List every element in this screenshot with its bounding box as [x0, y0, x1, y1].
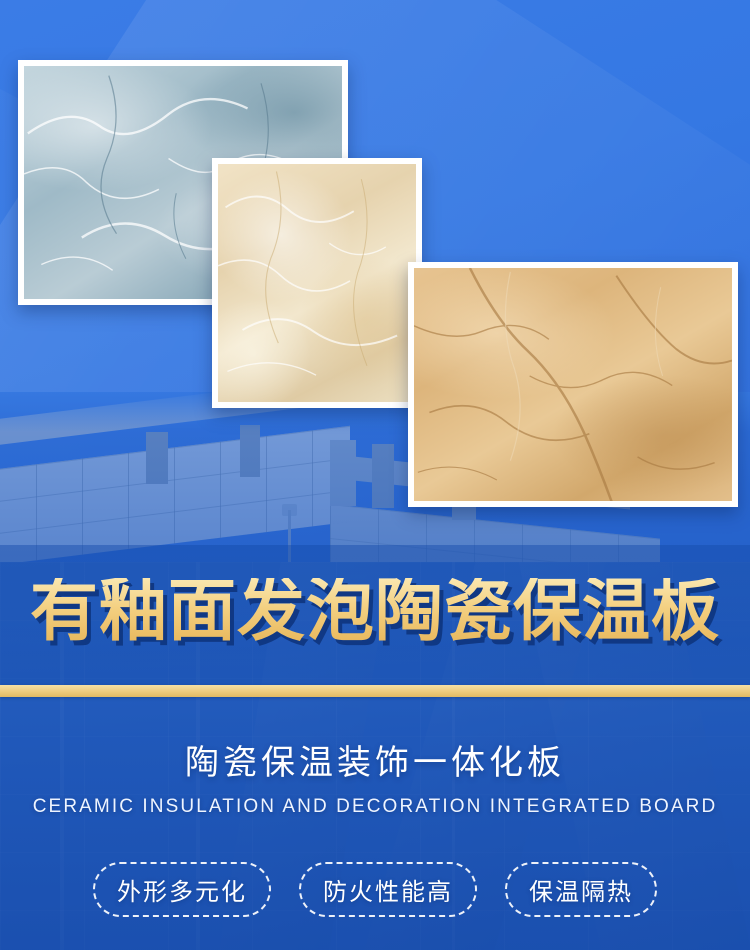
product-banner: 有釉面发泡陶瓷保温板 陶瓷保温装饰一体化板 CERAMIC INSULATION… [0, 0, 750, 950]
feature-pill-shape-variety[interactable]: 外形多元化 [93, 862, 271, 917]
marble-veining [414, 268, 732, 504]
subtitle-english: CERAMIC INSULATION AND DECORATION INTEGR… [0, 796, 750, 818]
feature-pill-fire-resistance[interactable]: 防火性能高 [299, 862, 477, 917]
sample-tile-cream-marble[interactable] [212, 158, 422, 408]
marble-veining [218, 164, 416, 400]
sample-tile-tan-marble[interactable] [408, 262, 738, 507]
feature-pill-thermal-insulation[interactable]: 保温隔热 [505, 862, 657, 917]
gold-divider [0, 685, 750, 697]
subtitle-chinese: 陶瓷保温装饰一体化板 [0, 744, 750, 783]
feature-pill-list: 外形多元化 防火性能高 保温隔热 [0, 862, 750, 917]
page-title: 有釉面发泡陶瓷保温板 [0, 578, 750, 646]
